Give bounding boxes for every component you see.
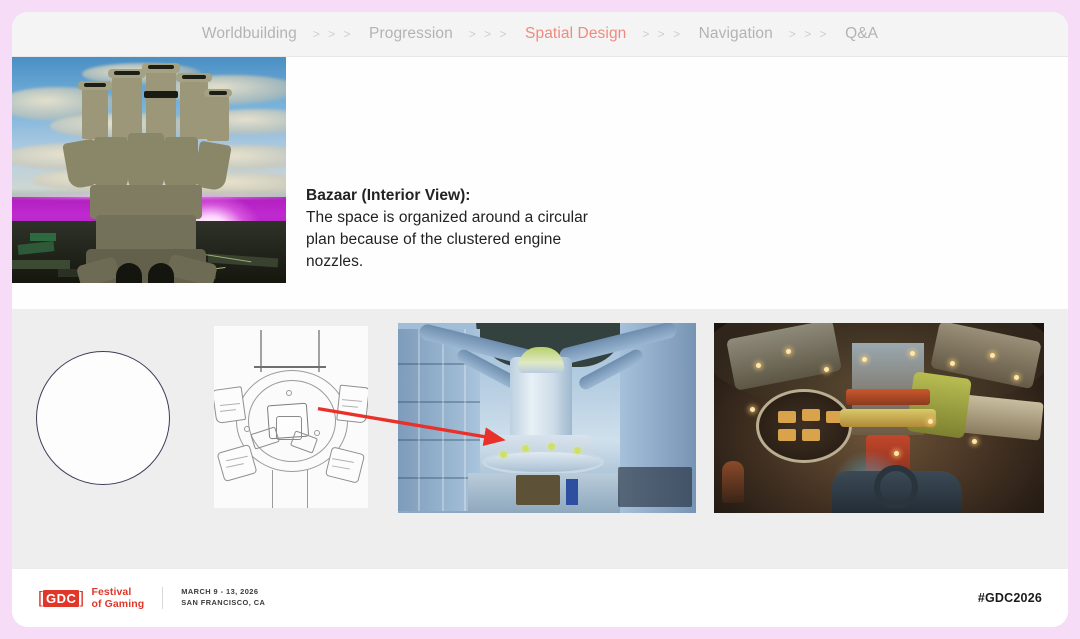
petal-skirt [128,133,164,191]
sign-tile [802,429,820,441]
panel-rib [398,439,480,441]
event-hashtag: #GDC2026 [978,591,1042,605]
festival-line-1: Festival [91,586,144,598]
turret [146,67,176,139]
indicator-lamp [548,443,555,450]
hero-caption: Bazaar (Interior View): The space is org… [306,185,606,273]
sketch-marker [314,430,320,436]
indicator-lamp [500,451,507,458]
floorplan-sketch [214,326,368,508]
section-nav: Worldbuilding > > > Progression > > > Sp… [12,12,1068,57]
petal-skirt [192,141,232,192]
hud-legend [618,467,692,507]
festival-name: Festival of Gaming [91,586,144,610]
string-light [824,367,829,372]
string-light [950,361,955,366]
turret [112,73,142,139]
turret [180,77,208,139]
bracket-right: ] [79,588,84,608]
bazaar-interior-render [714,323,1044,513]
string-light [894,451,899,456]
nav-item-navigation[interactable]: Navigation [697,25,775,43]
sketch-marker [244,426,250,432]
gdc-wordmark: [ GDC ] [38,588,84,608]
panel-seam [442,329,444,511]
turret-band [182,75,206,79]
date-line: MARCH 9 - 13, 2026 [181,587,265,598]
location-line: SAN FRANCISCO, CA [181,598,265,609]
debris [30,233,56,241]
nav-item-progression[interactable]: Progression [367,25,455,43]
string-light [928,419,933,424]
turret-band [209,91,227,95]
string-light [910,351,915,356]
panel-rib [398,401,480,403]
character-silhouette [722,461,744,503]
indicator-lamp [522,445,529,452]
equipment-crate [516,475,560,505]
petal-skirt [94,137,128,191]
string-light [1014,375,1019,380]
nav-item-spatial-design[interactable]: Spatial Design [523,25,628,43]
section-gallery [12,309,1068,568]
sign-tile [802,409,820,421]
event-dates: MARCH 9 - 13, 2026 SAN FRANCISCO, CA [181,587,265,608]
market-awning [846,389,930,405]
turret-band [114,71,140,75]
panel-seam [418,329,420,511]
concept-render-tower-structure [12,57,286,283]
sketch-pod [336,385,368,424]
string-light [972,439,977,444]
sign-tile [778,429,796,441]
tower-archway [116,263,142,283]
caption-body: The space is organized around a circular… [306,209,588,270]
market-awning [840,409,936,427]
gdc-badge: GDC [43,590,79,607]
circle-diagram [36,351,170,485]
debris [12,260,70,269]
string-light [862,357,867,362]
nav-item-qa[interactable]: Q&A [843,25,880,43]
weapon-muzzle [874,465,918,509]
engine-nozzle-render [398,323,696,513]
indicator-lamp [574,447,581,454]
tower-structure [64,67,234,283]
turret-band [84,83,106,87]
sketch-pod [214,386,246,424]
turret [207,93,229,141]
section-hero: Bazaar (Interior View): The space is org… [12,57,1068,309]
sketch-stem [272,470,308,508]
string-light [756,363,761,368]
nav-separator-icon: > > > [299,27,367,41]
slide-card: Worldbuilding > > > Progression > > > Sp… [12,12,1068,627]
string-light [786,349,791,354]
gdc-logo: [ GDC ] Festival of Gaming MARCH 9 - 13,… [38,586,265,610]
nav-separator-icon: > > > [775,27,843,41]
caption-title: Bazaar (Interior View): [306,185,606,207]
turret-slot [144,91,178,98]
sign-tile [778,411,796,423]
sketch-pod [325,446,365,483]
festival-line-2: of Gaming [91,598,144,610]
turret-band [148,65,174,69]
tower-archway [148,263,174,283]
sketch-marker [286,390,292,396]
string-light [750,407,755,412]
petal-skirt [164,137,198,191]
market-stall-canopy [906,371,972,438]
equipment-marker [566,479,578,505]
nav-separator-icon: > > > [628,27,696,41]
footer-divider [162,587,163,609]
nav-item-worldbuilding[interactable]: Worldbuilding [200,25,299,43]
sketch-stroke [254,366,326,368]
section-footer: [ GDC ] Festival of Gaming MARCH 9 - 13,… [12,568,1068,627]
tower-body [90,185,202,219]
string-light [990,353,995,358]
turret [82,85,108,139]
nav-separator-icon: > > > [455,27,523,41]
tower-leg [76,256,121,283]
